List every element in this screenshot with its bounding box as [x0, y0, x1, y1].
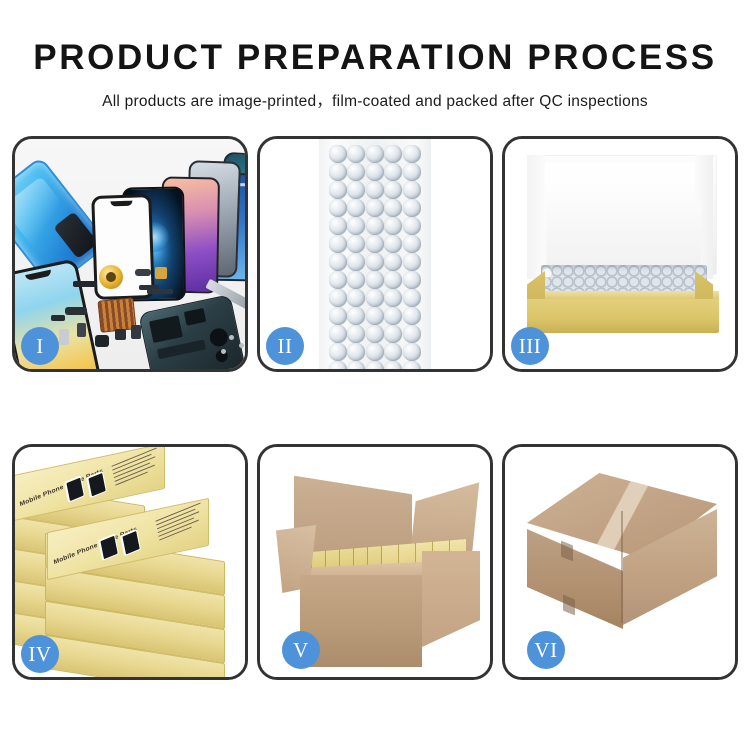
bubble [366, 235, 384, 253]
bubble [366, 217, 384, 235]
bubble [329, 217, 347, 235]
bubble [384, 271, 402, 289]
page-subtitle: All products are image-printed，film-coat… [0, 89, 750, 111]
screw-part [229, 335, 234, 340]
step-badge-3: III [511, 327, 549, 365]
bubble [329, 289, 347, 307]
bubble-grid [329, 145, 421, 369]
bubble [329, 253, 347, 271]
bubble [403, 361, 421, 369]
bubble [384, 253, 402, 271]
spare-part [51, 315, 65, 321]
bubble [384, 199, 402, 217]
bubble [347, 289, 365, 307]
step-badge-6: VI [527, 631, 565, 669]
step-badge-1: I [21, 327, 59, 365]
bubble-wrap-sleeve [319, 139, 431, 369]
bubble [366, 163, 384, 181]
bubble [347, 217, 365, 235]
screw-part [239, 343, 244, 348]
process-step-panel-5: V [257, 444, 493, 680]
bubble [403, 253, 421, 271]
bubble [347, 325, 365, 343]
bubble [384, 235, 402, 253]
bubble [329, 361, 347, 369]
bubble [347, 163, 365, 181]
product-preparation-infographic: PRODUCT PREPARATION PROCESS All products… [0, 0, 750, 750]
page-title: PRODUCT PREPARATION PROCESS [0, 40, 750, 75]
gold-coil-part [99, 265, 123, 289]
bubble [347, 271, 365, 289]
bubble [329, 307, 347, 325]
bubble [347, 343, 365, 361]
bubble [347, 181, 365, 199]
process-step-panel-6: VI [502, 444, 738, 680]
bubble [403, 181, 421, 199]
bubble [329, 181, 347, 199]
process-step-grid: I II III [12, 136, 738, 682]
spare-part [59, 329, 69, 345]
bubble [366, 271, 384, 289]
bubble [366, 253, 384, 271]
step-badge-2: II [266, 327, 304, 365]
spare-part [135, 269, 151, 276]
bubble [384, 307, 402, 325]
bubble [403, 289, 421, 307]
bubble [347, 253, 365, 271]
phone-chassis-graphic [138, 294, 245, 369]
spare-part [155, 267, 167, 279]
bubble [366, 181, 384, 199]
bubble [366, 199, 384, 217]
bubble [329, 343, 347, 361]
bubble [403, 199, 421, 217]
spare-part [95, 335, 109, 347]
box-front-panel [527, 299, 719, 333]
bubble [384, 343, 402, 361]
process-step-panel-2: II [257, 136, 493, 372]
bubble [403, 343, 421, 361]
carton-corner-seam [621, 511, 623, 623]
bubble [403, 271, 421, 289]
bubble [329, 325, 347, 343]
bubble [403, 163, 421, 181]
bubble [366, 325, 384, 343]
bubble [347, 307, 365, 325]
step-badge-4: IV [21, 635, 59, 673]
step-badge-5: V [282, 631, 320, 669]
bubble [329, 235, 347, 253]
bubble [403, 325, 421, 343]
spare-part [147, 289, 173, 294]
spare-part [65, 307, 87, 315]
bubble [366, 145, 384, 163]
bubble [403, 235, 421, 253]
bubble [403, 145, 421, 163]
bubble [366, 343, 384, 361]
box-printed-spec-lines [155, 503, 206, 552]
screw-part [221, 349, 226, 354]
bubble [384, 217, 402, 235]
spare-part [73, 281, 97, 287]
bubble [347, 235, 365, 253]
carton-side-panel [422, 551, 480, 647]
bubble [347, 361, 365, 369]
process-step-panel-1: I [12, 136, 248, 372]
bubble [403, 217, 421, 235]
bubble [329, 145, 347, 163]
process-step-panel-4: Mobile Phone Spare Parts Mobile Phone Sp… [12, 444, 248, 680]
spare-part [115, 329, 126, 340]
bubble [329, 271, 347, 289]
bubble [384, 361, 402, 369]
foam-insert [547, 201, 701, 267]
bubble [384, 163, 402, 181]
bubble [403, 307, 421, 325]
bubble [329, 163, 347, 181]
bubble [384, 181, 402, 199]
spare-part [131, 325, 141, 339]
spare-part [77, 323, 86, 337]
bubble [347, 145, 365, 163]
bubble [384, 289, 402, 307]
bubble [366, 289, 384, 307]
process-step-panel-3: III [502, 136, 738, 372]
bubble [366, 307, 384, 325]
bubble [366, 361, 384, 369]
box-lid-flap-left [527, 155, 545, 279]
header: PRODUCT PREPARATION PROCESS All products… [0, 0, 750, 111]
box-printed-spec-lines [111, 448, 162, 495]
bubble [384, 145, 402, 163]
bubble [384, 325, 402, 343]
bubble [347, 199, 365, 217]
bubble [329, 199, 347, 217]
